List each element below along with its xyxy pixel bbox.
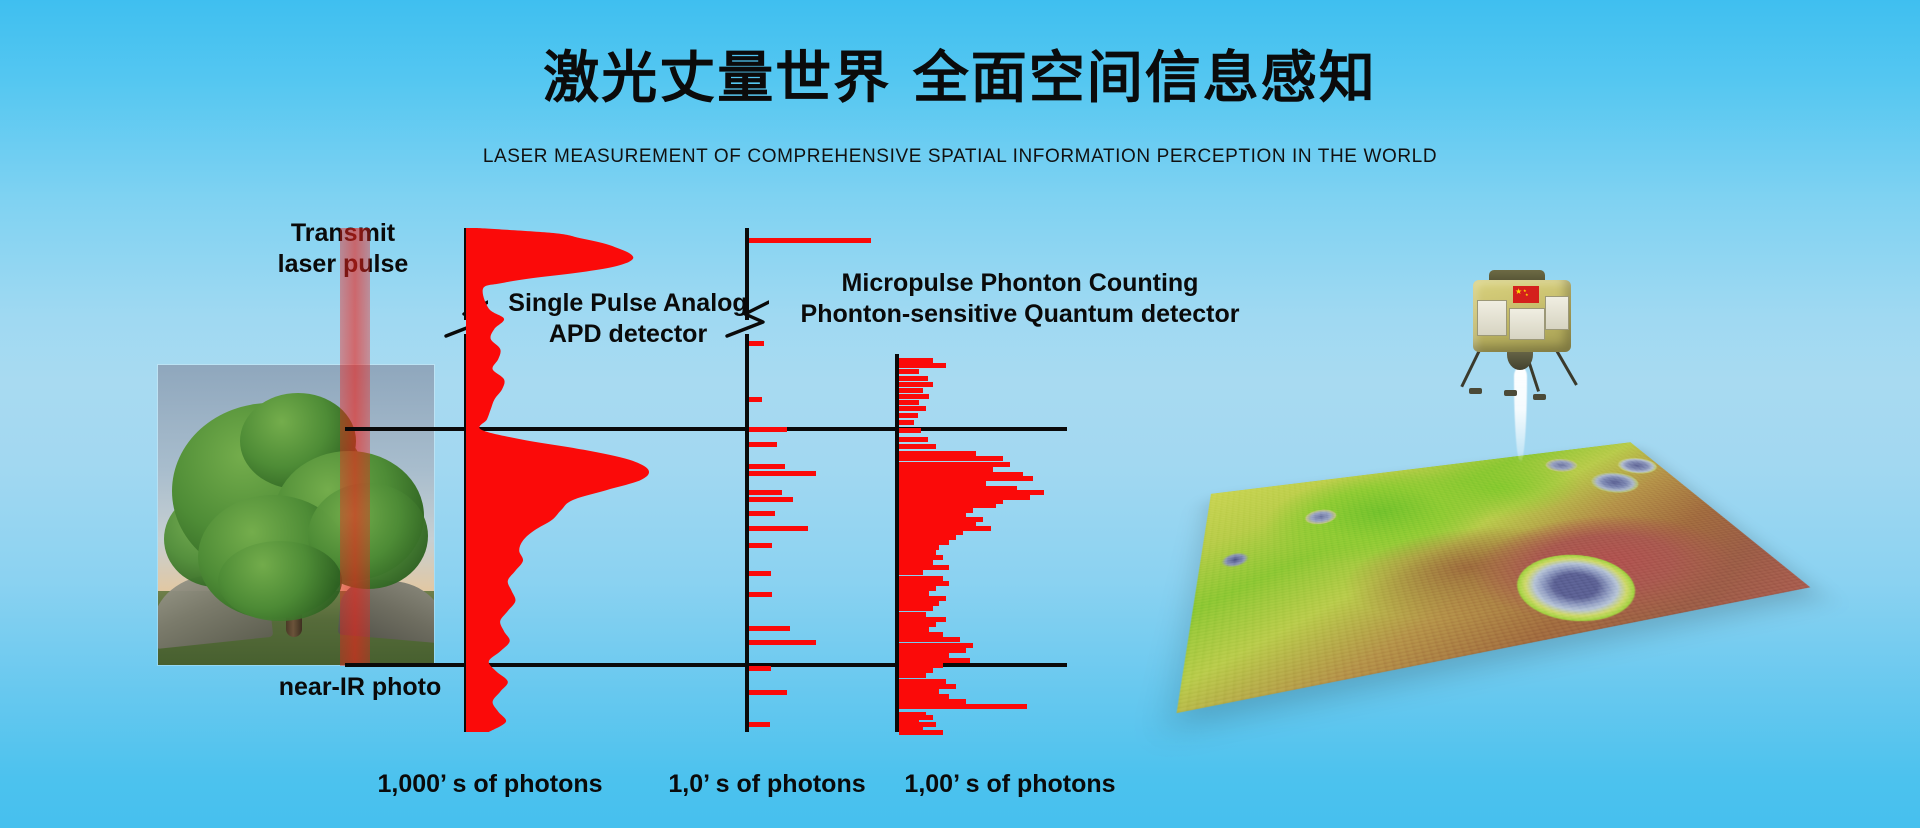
photon-count-bar: [749, 543, 772, 548]
photon-count-bar: [749, 471, 816, 476]
caption-column-1: 1,000’ s of photons per pulse: [350, 735, 630, 828]
photon-count-bar: [749, 397, 762, 402]
photon-count-bar: [749, 442, 777, 447]
photon-count-bar: [749, 238, 871, 243]
lander-foot: [1469, 388, 1482, 394]
photon-count-bar: [899, 704, 1027, 709]
lunar-lander: ★ ★ ★: [1463, 270, 1583, 420]
caption-line-1: 1,000’ s of photons: [350, 768, 630, 801]
transmit-laser-beam: [340, 228, 370, 666]
photon-count-bar: [899, 413, 918, 418]
photon-count-bar: [749, 341, 764, 346]
flag-star: ★: [1515, 288, 1522, 296]
photon-count-bar: [749, 511, 775, 516]
photon-count-bar: [899, 376, 928, 381]
lander-radiator-panel: [1509, 308, 1545, 340]
dense-photon-count-bars: [899, 354, 1069, 732]
photon-count-bar: [749, 571, 771, 576]
photon-count-bar: [749, 526, 808, 531]
photon-count-bar: [899, 394, 929, 399]
lander-radiator-panel: [1545, 296, 1569, 330]
engine-plume: [1514, 367, 1527, 463]
page-title: 激光丈量世界 全面空间信息感知: [0, 48, 1920, 110]
photon-count-bar: [899, 363, 946, 368]
photon-count-bar: [899, 437, 928, 442]
lander-radiator-panel: [1477, 300, 1507, 336]
caption-column-3: 1,00’ s of photons Multi-pulses: [870, 735, 1150, 828]
photon-count-bar: [749, 490, 782, 495]
photon-count-bar: [899, 382, 933, 387]
micropulse-photon-counting-label: Micropulse Phonton Counting Phonton-sens…: [790, 268, 1250, 329]
photon-count-bar: [899, 420, 914, 425]
photon-count-bar: [899, 428, 921, 433]
photon-count-bar: [749, 640, 816, 645]
lander-foot: [1533, 394, 1546, 400]
caption-column-2: 1,0’ s of photons per pulse: [632, 735, 902, 828]
photon-count-bar: [749, 427, 787, 432]
photon-count-bar: [899, 406, 926, 411]
photon-count-bar: [749, 592, 772, 597]
lander-foot: [1504, 390, 1517, 396]
photon-count-bar: [899, 400, 919, 405]
flag-star: ★: [1525, 291, 1529, 299]
lidar-terrain-scene: ★ ★ ★: [1195, 270, 1855, 770]
caption-line-1: 1,00’ s of photons: [870, 768, 1150, 801]
tree-canopy: [218, 541, 342, 621]
photon-count-bar: [899, 388, 923, 393]
near-ir-photo: [158, 365, 434, 665]
infographic-canvas: 激光丈量世界 全面空间信息感知 LASER MEASUREMENT OF COM…: [0, 0, 1920, 828]
photon-count-bar: [749, 497, 793, 502]
photon-count-bar: [749, 626, 790, 631]
photon-count-bar: [749, 666, 771, 671]
terrain-dem-surface: [1177, 442, 1811, 713]
photon-count-bar: [749, 722, 770, 727]
page-subtitle: LASER MEASUREMENT OF COMPREHENSIVE SPATI…: [0, 146, 1920, 168]
photon-count-bar: [749, 464, 785, 469]
photon-count-bar: [899, 444, 936, 449]
caption-line-1: 1,0’ s of photons: [632, 768, 902, 801]
photon-count-bar: [749, 690, 787, 695]
chinese-flag-icon: ★ ★ ★: [1513, 286, 1539, 303]
photon-count-bar: [899, 369, 919, 374]
